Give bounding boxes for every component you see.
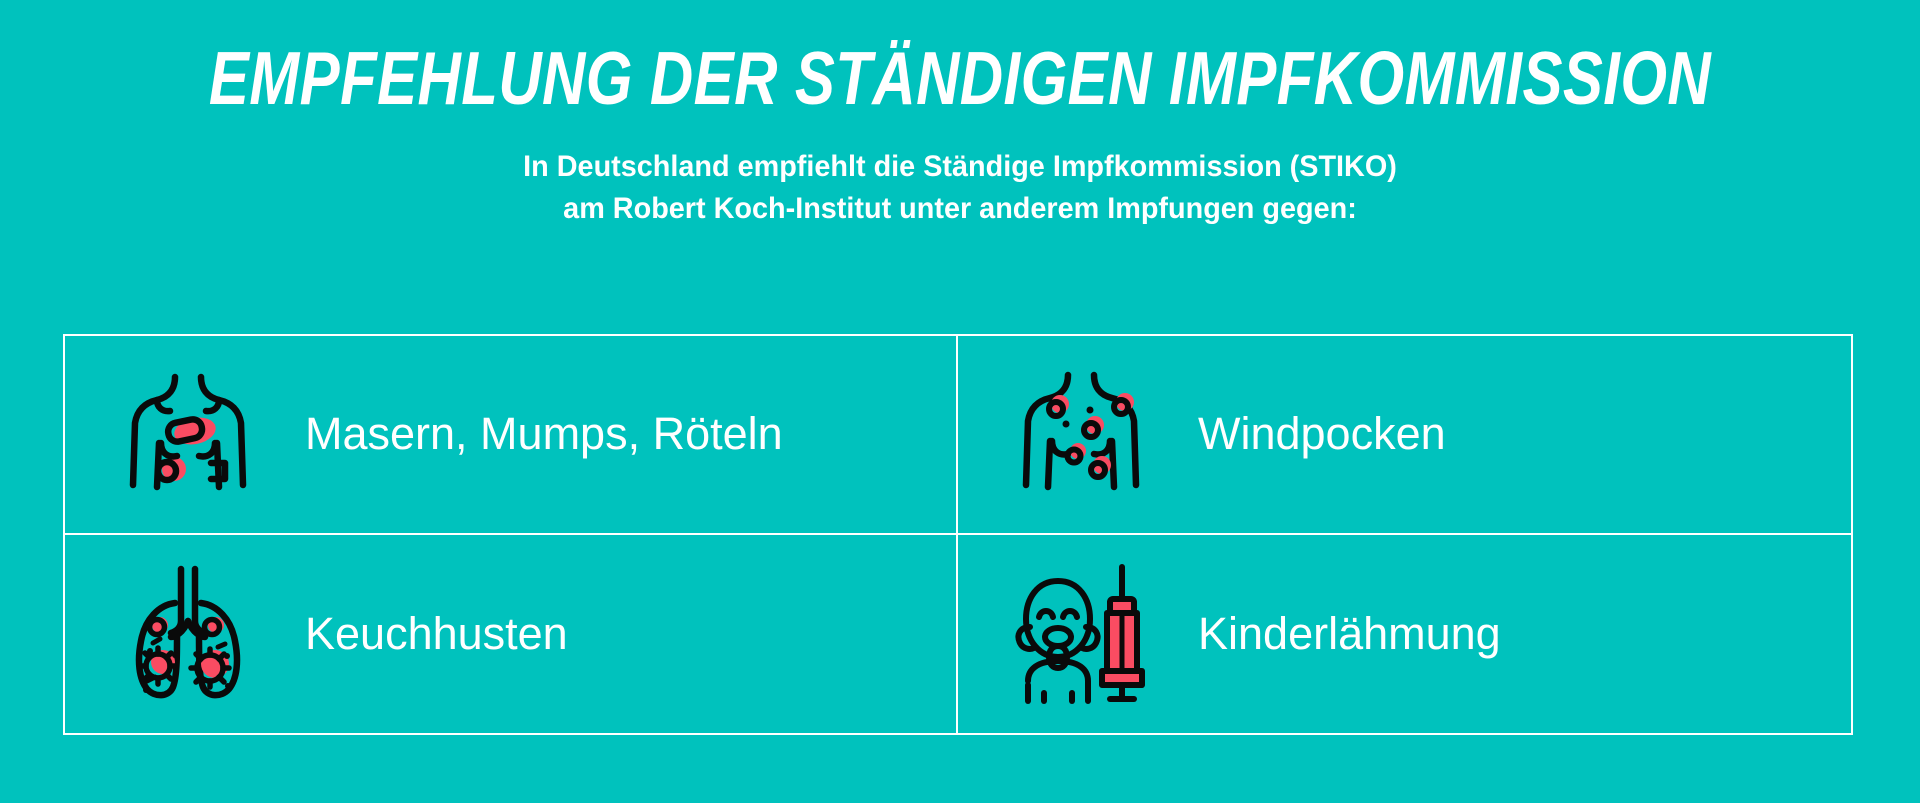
vaccination-grid: Masern, Mumps, Röteln	[63, 334, 1853, 735]
subtitle-line-2: am Robert Koch-Institut unter anderem Im…	[38, 188, 1881, 230]
subtitle: In Deutschland empfiehlt die Ständige Im…	[38, 146, 1881, 230]
page-title: EMPFEHLUNG DER STÄNDIGEN IMPFKOMMISSION	[192, 36, 1728, 120]
grid-cell-label: Windpocken	[1198, 408, 1446, 460]
baby-syringe-icon	[1006, 559, 1156, 709]
grid-cell-label: Keuchhusten	[305, 608, 568, 660]
lungs-bacteria-icon	[113, 559, 263, 709]
grid-cell-windpocken: Windpocken	[958, 336, 1851, 535]
grid-cell-label: Kinderlähmung	[1198, 608, 1501, 660]
grid-cell-keuchhusten: Keuchhusten	[65, 535, 958, 734]
grid-cell-kinderlaehmung: Kinderlähmung	[958, 535, 1851, 734]
grid-cell-masern-mumps-roeteln: Masern, Mumps, Röteln	[65, 336, 958, 535]
subtitle-line-1: In Deutschland empfiehlt die Ständige Im…	[38, 146, 1881, 188]
grid-cell-label: Masern, Mumps, Röteln	[305, 408, 783, 460]
torso-pox-icon	[1006, 359, 1156, 509]
torso-rash-icon	[113, 359, 263, 509]
infographic-poster: EMPFEHLUNG DER STÄNDIGEN IMPFKOMMISSION …	[0, 0, 1920, 803]
